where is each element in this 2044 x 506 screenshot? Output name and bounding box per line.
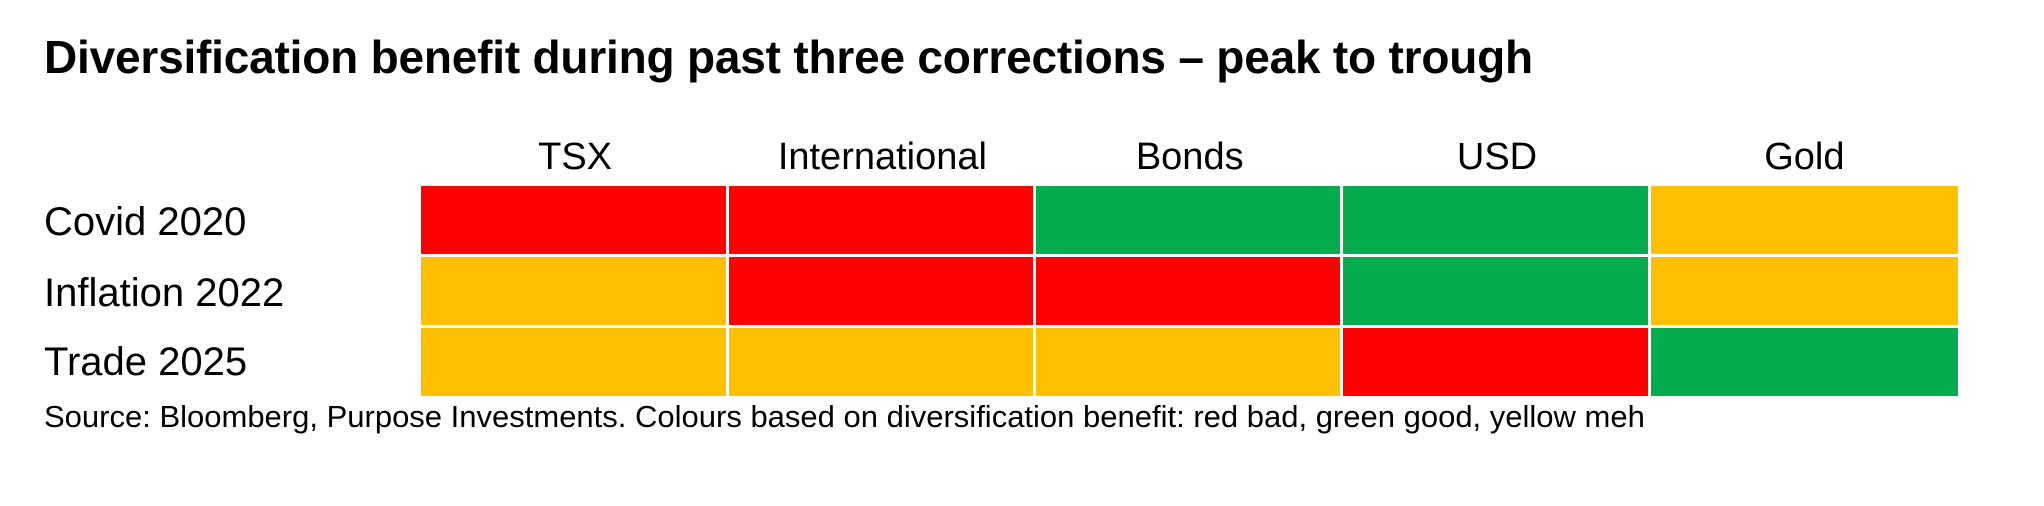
cell-trade-2025-bonds xyxy=(1036,328,1343,396)
cell-covid-2020-tsx xyxy=(421,186,728,257)
matrix-header: TSX International Bonds USD Gold xyxy=(0,124,1958,186)
diversification-matrix: TSX International Bonds USD Gold Covid 2… xyxy=(0,124,2044,396)
cell-trade-2025-gold xyxy=(1651,328,1958,396)
cell-covid-2020-usd xyxy=(1343,186,1650,257)
row-header-trade-2025: Trade 2025 xyxy=(0,328,421,396)
column-header-bonds: Bonds xyxy=(1036,124,1343,186)
column-header-gold: Gold xyxy=(1651,124,1958,186)
table-row: Inflation 2022 xyxy=(0,257,1958,328)
cell-trade-2025-usd xyxy=(1343,328,1650,396)
cell-inflation-2022-gold xyxy=(1651,257,1958,328)
cell-inflation-2022-international xyxy=(729,257,1036,328)
cell-covid-2020-international xyxy=(729,186,1036,257)
table-row: Trade 2025 xyxy=(0,328,1958,396)
source-note: Source: Bloomberg, Purpose Investments. … xyxy=(44,401,1645,432)
column-header-tsx: TSX xyxy=(421,124,728,186)
row-header-covid-2020: Covid 2020 xyxy=(0,186,421,257)
cell-covid-2020-bonds xyxy=(1036,186,1343,257)
page-title: Diversification benefit during past thre… xyxy=(44,34,1533,80)
cell-inflation-2022-bonds xyxy=(1036,257,1343,328)
corner-cell xyxy=(0,124,421,186)
matrix-table: TSX International Bonds USD Gold Covid 2… xyxy=(0,124,1958,396)
cell-covid-2020-gold xyxy=(1651,186,1958,257)
cell-trade-2025-international xyxy=(729,328,1036,396)
row-header-inflation-2022: Inflation 2022 xyxy=(0,257,421,328)
column-header-usd: USD xyxy=(1343,124,1650,186)
matrix-body: Covid 2020 Inflation 2022 Trade 2025 xyxy=(0,186,1958,396)
column-header-row: TSX International Bonds USD Gold xyxy=(0,124,1958,186)
column-header-international: International xyxy=(729,124,1036,186)
cell-trade-2025-tsx xyxy=(421,328,728,396)
cell-inflation-2022-usd xyxy=(1343,257,1650,328)
cell-inflation-2022-tsx xyxy=(421,257,728,328)
table-row: Covid 2020 xyxy=(0,186,1958,257)
